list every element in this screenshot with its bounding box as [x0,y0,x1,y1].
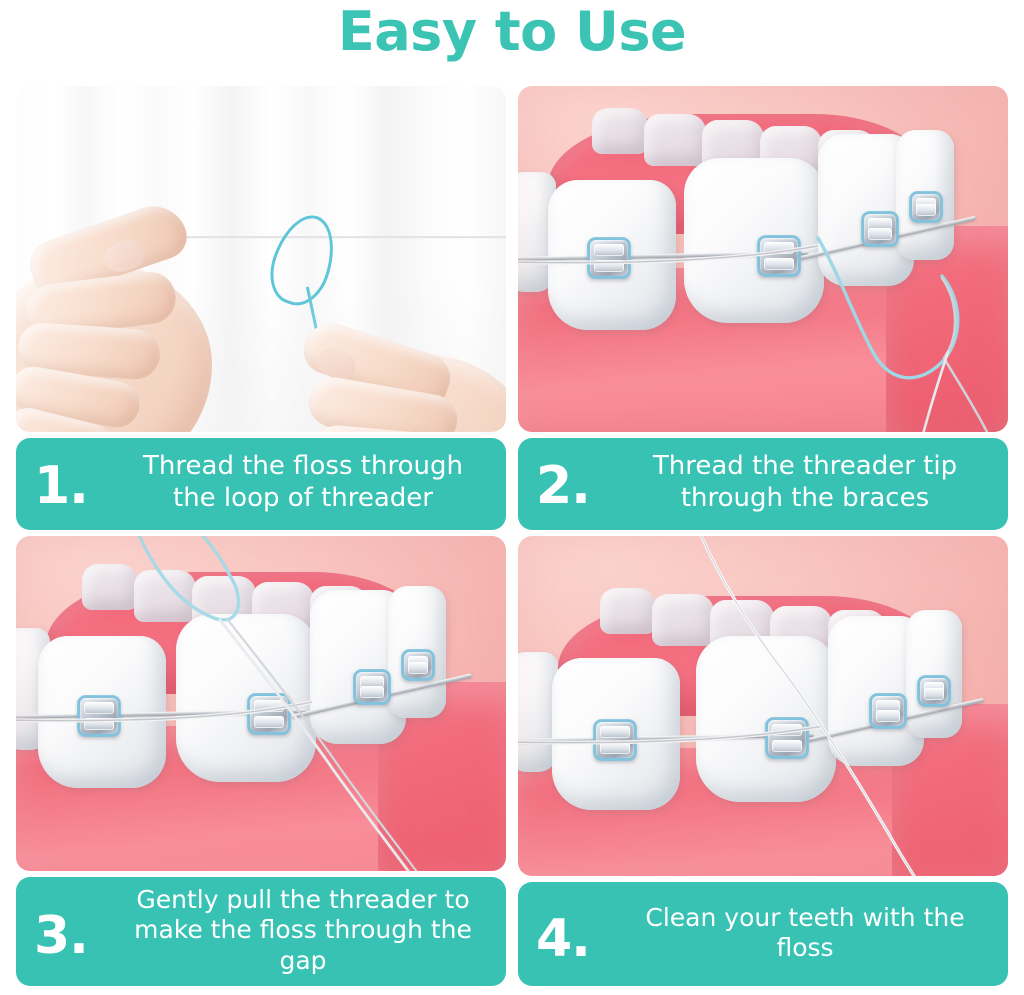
bracket-3-2 [248,694,290,734]
back-tooth-3-2 [134,570,196,622]
step-2-photo [518,86,1008,432]
bracket-tie-2 [757,235,801,277]
back-tooth-1 [592,108,648,154]
bracket-tie-4-3 [869,693,907,729]
back-tooth-4-2 [652,594,714,646]
step-1-text: Thread the floss through the loop of thr… [120,451,492,514]
tooth-4-4 [906,610,962,738]
bracket-1 [588,238,630,278]
bracket-tie-4-2 [765,717,809,759]
tooth-2 [684,158,824,323]
bracket-4-1 [594,720,636,760]
infographic-page: Easy to Use [0,0,1024,995]
bracket-tie-3-2 [247,693,291,735]
bracket-tie-3-4 [401,649,435,681]
bracket-3 [862,212,898,246]
back-tooth-3-1 [82,564,138,610]
bracket-3-1 [78,696,120,736]
step-3-text: Gently pull the threader to make the flo… [120,885,492,977]
bracket-4-3 [870,694,906,728]
back-tooth-4-1 [600,588,656,634]
step-2-caption: 2. Thread the threader tip through the b… [518,438,1008,530]
step-4-text: Clean your teeth with the floss [622,903,994,964]
tooth-3-2 [176,614,316,782]
bracket-4 [910,192,942,222]
bracket-3-3 [354,670,390,704]
step-3-photo [16,536,506,871]
steps-grid: 1. Thread the floss through the loop of … [16,86,1008,986]
step-2-text: Thread the threader tip through the brac… [622,451,994,514]
bracket-4-4 [918,676,950,706]
step-card-4: 4. Clean your teeth with the floss [518,536,1008,986]
bracket-tie-3 [861,211,899,247]
step-4-number: 4. [536,901,622,965]
step-3-caption: 3. Gently pull the threader to make the … [16,877,506,987]
tooth-4-2 [696,636,836,802]
step-4-caption: 4. Clean your teeth with the floss [518,882,1008,986]
bracket-tie-3-3 [353,669,391,705]
bracket-tie-4-4 [917,675,951,707]
floss-strand [161,236,506,239]
step-card-3: 3. Gently pull the threader to make the … [16,536,506,986]
bracket-tie-4 [909,191,943,223]
bracket-2 [758,236,800,276]
bracket-tie-4-1 [593,719,637,761]
step-card-2: 2. Thread the threader tip through the b… [518,86,1008,530]
step-1-caption: 1. Thread the floss through the loop of … [16,438,506,530]
bracket-tie-1 [587,237,631,279]
step-1-number: 1. [34,454,120,512]
step-1-photo [16,86,506,432]
step-card-1: 1. Thread the floss through the loop of … [16,86,506,530]
back-tooth-2 [644,114,706,166]
bracket-tie-3-1 [77,695,121,737]
bracket-3-4 [402,650,434,680]
bracket-4-2 [766,718,808,758]
step-2-number: 2. [536,454,622,512]
page-title: Easy to Use [0,0,1024,70]
step-4-photo [518,536,1008,876]
step-3-number: 3. [34,898,120,962]
